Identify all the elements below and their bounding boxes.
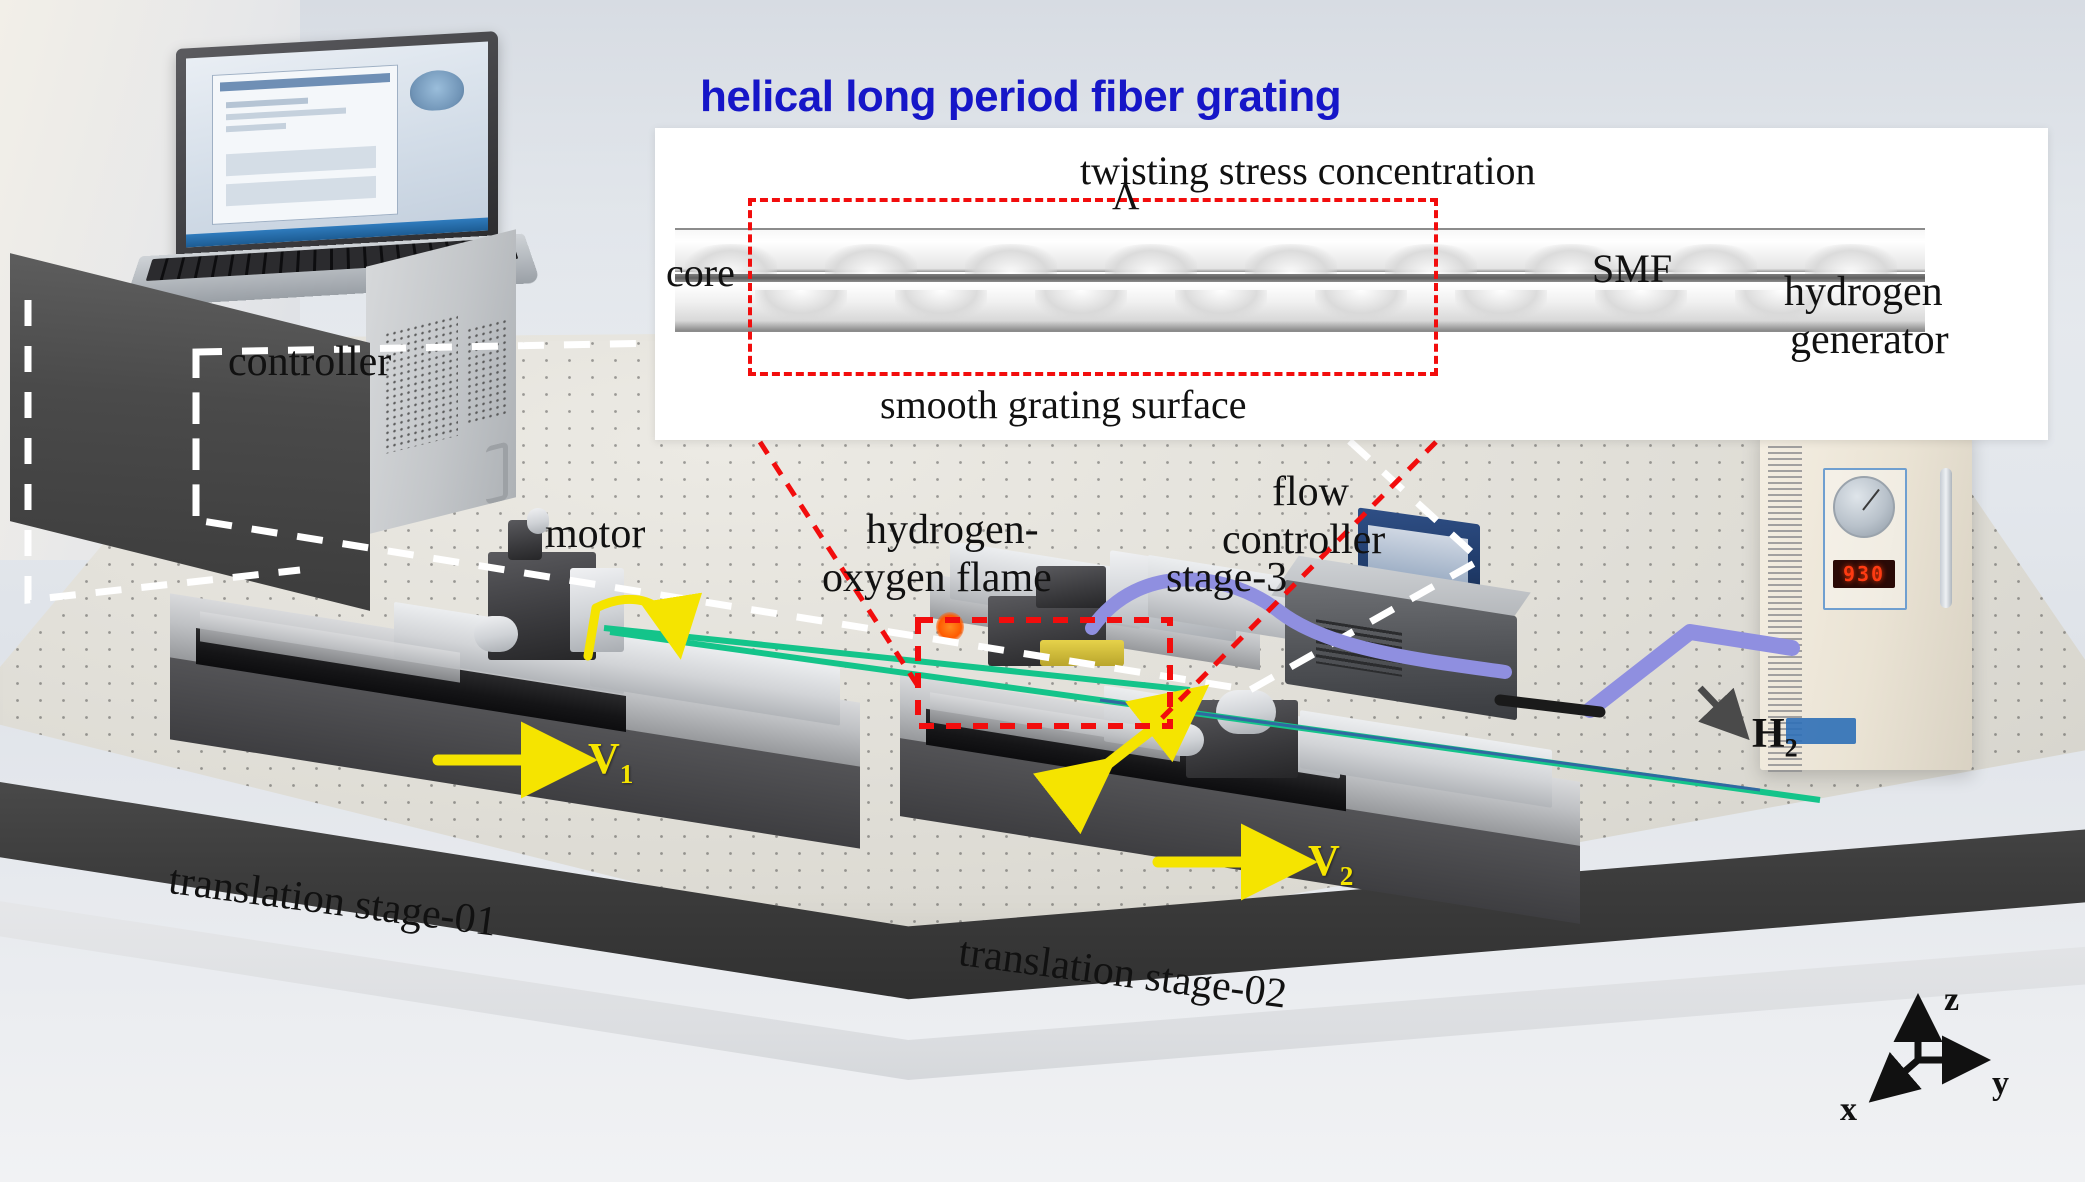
stage02-rotation-collar (1216, 690, 1276, 734)
flow-controller-label-line2: controller (1222, 518, 1385, 562)
grating-bump (1455, 290, 1547, 320)
grating-bump (1665, 244, 1757, 274)
axis-z-label: z (1944, 982, 1959, 1018)
fiber-clamp (1040, 640, 1124, 666)
v2-label: V2 (1308, 838, 1353, 890)
stage02-knob (1164, 724, 1204, 756)
controller-vent-grid (384, 314, 458, 454)
hydrogen-generator-level-tube (1940, 468, 1952, 608)
axis-x-label: x (1840, 1092, 1857, 1128)
smooth-grating-surface-label: smooth grating surface (880, 384, 1247, 426)
inset-zoom-box (748, 198, 1438, 376)
h2-label: H2 (1752, 712, 1798, 762)
hydrogen-generator-led-display: 930 (1833, 560, 1895, 588)
twisting-stress-label: twisting stress concentration (1080, 150, 1535, 192)
controller-rack (10, 238, 515, 598)
v1-label: V1 (588, 736, 633, 788)
hydrogen-oxygen-flame (936, 612, 964, 642)
led-display-value: 930 (1843, 562, 1885, 586)
figure-root: 930 (0, 0, 2085, 1182)
controller-handle (486, 441, 508, 504)
motor-label: motor (545, 512, 645, 556)
flow-controller-label-line1: flow (1272, 470, 1349, 514)
motor-adjuster-knob (474, 616, 518, 652)
inset-title: helical long period fiber grating (700, 72, 2000, 122)
hydrogen-generator-label-line2: generator (1790, 318, 1949, 362)
smf-label: SMF (1592, 248, 1672, 290)
axis-y-label: y (1992, 1066, 2009, 1102)
grating-bump (1595, 290, 1687, 320)
period-symbol-label: Λ (1112, 178, 1140, 218)
hydrogen-oxygen-flame-label-line2: oxygen flame (822, 556, 1052, 600)
laptop-logo-graphic (410, 69, 464, 112)
hydrogen-oxygen-flame-label-line1: hydrogen- (866, 508, 1039, 552)
motor-chuck (570, 568, 624, 652)
controller-label: controller (228, 340, 391, 384)
hydrogen-generator-label-line1: hydrogen (1784, 270, 1943, 314)
core-label: core (666, 252, 735, 294)
controller-vent-grid (466, 317, 508, 423)
laptop-display-content (186, 42, 488, 248)
laptop-screen (176, 31, 498, 264)
controller-rack-front-panel (10, 253, 370, 611)
